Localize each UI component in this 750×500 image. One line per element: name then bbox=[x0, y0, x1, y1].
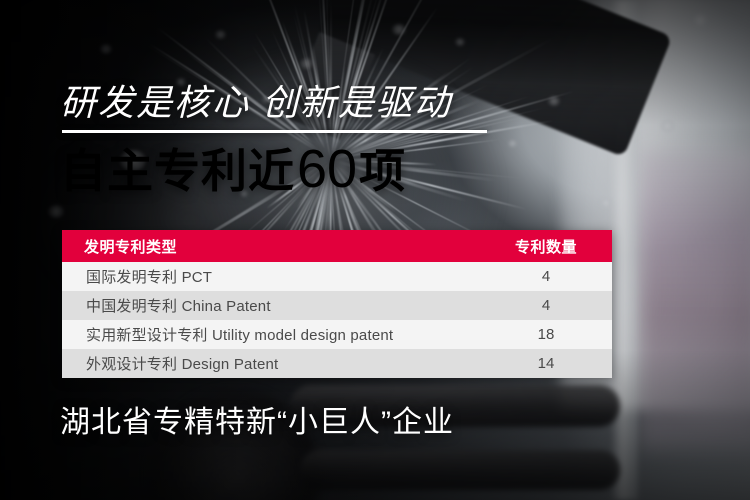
patent-poster: 研发是核心 创新是驱动 自主专利近 60 项 发明专利类型 专利数量 国际发明专… bbox=[0, 0, 750, 500]
table-header-type: 发明专利类型 bbox=[62, 236, 480, 257]
headline-primary: 研发是核心 创新是驱动 bbox=[60, 82, 452, 124]
headline-secondary-number: 60 bbox=[295, 143, 359, 195]
headline-secondary: 自主专利近 60 项 bbox=[60, 143, 406, 197]
table-row: 国际发明专利 PCT 4 bbox=[62, 262, 612, 291]
poster-caption: 湖北省专精特新“小巨人”企业 bbox=[60, 404, 454, 442]
table-cell-type: 中国发明专利 China Patent bbox=[62, 295, 480, 316]
table-cell-type: 外观设计专利 Design Patent bbox=[62, 353, 480, 374]
patent-table: 发明专利类型 专利数量 国际发明专利 PCT 4 中国发明专利 China Pa… bbox=[62, 230, 612, 378]
headline-secondary-prefix: 自主专利近 bbox=[60, 145, 295, 197]
table-cell-type: 实用新型设计专利 Utility model design patent bbox=[62, 324, 480, 345]
table-row: 外观设计专利 Design Patent 14 bbox=[62, 349, 612, 378]
table-row: 实用新型设计专利 Utility model design patent 18 bbox=[62, 320, 612, 349]
headline-divider bbox=[62, 130, 487, 133]
table-row: 中国发明专利 China Patent 4 bbox=[62, 291, 612, 320]
poster-content: 研发是核心 创新是驱动 自主专利近 60 项 发明专利类型 专利数量 国际发明专… bbox=[0, 0, 750, 500]
table-cell-count: 18 bbox=[480, 326, 612, 343]
table-header-row: 发明专利类型 专利数量 bbox=[62, 230, 612, 262]
table-cell-count: 14 bbox=[480, 355, 612, 372]
table-cell-type: 国际发明专利 PCT bbox=[62, 266, 480, 287]
headline-secondary-suffix: 项 bbox=[359, 145, 406, 197]
table-cell-count: 4 bbox=[480, 268, 612, 285]
table-cell-count: 4 bbox=[480, 297, 612, 314]
table-header-count: 专利数量 bbox=[480, 236, 612, 257]
